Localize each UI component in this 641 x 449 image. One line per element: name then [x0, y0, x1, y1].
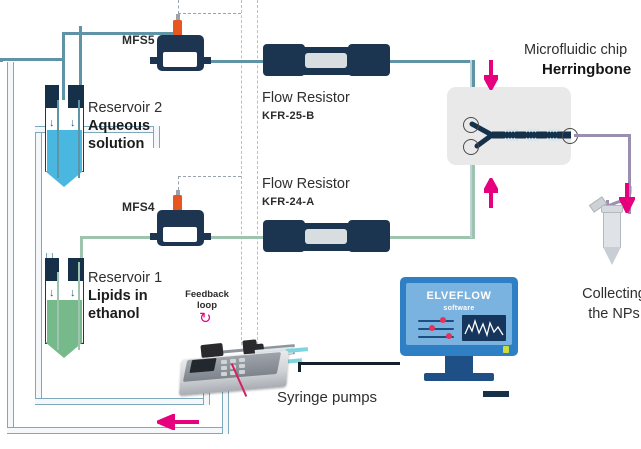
kfr-24-a-cap-left [263, 220, 305, 252]
reservoir-2-content-line1: Aqueous [88, 118, 150, 134]
tube-outline-riser-1 [222, 385, 229, 434]
monitor-screen: ELVEFLOW software [406, 283, 512, 345]
reservoir-1-content-line1: Lipids in [88, 288, 148, 304]
footer-accent-bar [483, 391, 509, 397]
mfs5-cable-horizontal [178, 13, 241, 14]
software-slider-track-1[interactable] [418, 320, 454, 322]
bottom-return-arrow [157, 414, 199, 435]
pump-key[interactable] [221, 372, 227, 377]
collection-label-line2: the NPs [562, 306, 641, 322]
monitor-neck [445, 356, 473, 373]
kfr-24-a-model: KFR-24-A [262, 196, 315, 208]
eppendorf-tip [603, 247, 621, 265]
pump-display [189, 358, 216, 373]
reservoir-2-name: Reservoir 2 [88, 100, 162, 116]
reservoir-1-dip-tube-a [57, 272, 59, 350]
reservoir-2-arrow-1: ↓ [49, 118, 55, 129]
reservoir-1-content-line2: ethanol [88, 306, 140, 322]
diagram-canvas: ↓ ↓ Reservoir 2 Aqueous solution ↓ ↓ Res… [0, 0, 641, 449]
feedback-loop-icon: ↻ [199, 311, 212, 326]
software-slider-track-2[interactable] [418, 328, 454, 330]
mfs4-display-window [163, 227, 197, 242]
kfr-25-b-cap-right [348, 44, 390, 76]
pump-key[interactable] [221, 366, 227, 371]
waveform-icon [462, 315, 506, 341]
tube-chip-outlet [574, 134, 631, 137]
syringe-pumps-label: Syringe pumps [277, 390, 377, 407]
collection-label-line1: Collecting [562, 286, 641, 302]
tube-res2-riser [62, 32, 65, 100]
software-slider-knob-1[interactable] [440, 317, 446, 323]
chip-return-arrow [484, 178, 498, 213]
kfr-24-a-label: Flow Resistor [262, 176, 350, 192]
pump-key[interactable] [221, 360, 227, 365]
reservoir-2-arrow-2: ↓ [70, 118, 76, 129]
monitor-power-led [503, 346, 509, 353]
software-brand: ELVEFLOW [406, 290, 512, 302]
mfs4-label: MFS4 [122, 201, 155, 214]
mfs5-label: MFS5 [122, 34, 155, 47]
mfs4-cable-horizontal [178, 176, 241, 177]
software-slider-knob-3[interactable] [446, 333, 452, 339]
mfs4-port-left [150, 233, 159, 240]
reservoir-1-cap-right [68, 258, 84, 283]
kfr-24-a-cap-right [348, 220, 390, 252]
kfr-24-a-window [305, 229, 347, 244]
mfs5-cable-vertical [178, 0, 179, 14]
monitor-base [424, 373, 494, 381]
reservoir-2-dip-tube-a [57, 100, 59, 178]
mfs5-orange-plug [173, 20, 182, 36]
pump-key[interactable] [239, 358, 245, 363]
reservoir-1-name: Reservoir 1 [88, 270, 162, 286]
cable-monitor-elbow [298, 362, 301, 372]
tube-outline-inner-left [35, 126, 42, 405]
reservoir-2-content-line2: solution [88, 136, 144, 152]
tube-outline-drop-res2 [153, 126, 160, 148]
kfr-25-b-model: KFR-25-B [262, 110, 315, 122]
mfs4-orange-plug [173, 195, 182, 211]
mfs5-port-right [202, 57, 211, 64]
mfs5-port-left [150, 57, 159, 64]
chip-inlet-arrow [484, 60, 498, 95]
guide-dashed-left [241, 0, 242, 345]
chip-port-inlet-bottom[interactable] [463, 139, 479, 155]
software-graph-panel [462, 315, 506, 341]
tube-outline-bottom-2 [35, 398, 210, 405]
cable-monitor-horizontal [298, 362, 400, 365]
kfr-25-b-cap-left [263, 44, 305, 76]
reservoir-1-arrow-2: ↓ [70, 288, 76, 299]
kfr-25-b-label: Flow Resistor [262, 90, 350, 106]
mfs4-port-right [202, 233, 211, 240]
software-subtitle: software [406, 305, 512, 312]
software-slider-knob-2[interactable] [429, 325, 435, 331]
eppendorf-body [603, 212, 621, 248]
pump-syringe-plunger-1 [286, 347, 308, 353]
chip-port-inlet-top[interactable] [463, 117, 479, 133]
pump-key[interactable] [239, 370, 245, 375]
feedback-loop-line1: Feedback [176, 290, 238, 300]
reservoir-1-arrow-1: ↓ [49, 288, 55, 299]
tube-res2-dip-inner [79, 26, 82, 86]
reservoir-2-dip-tube-b [78, 100, 80, 178]
chip-label-line2: Herringbone [542, 62, 631, 79]
pump-key[interactable] [239, 364, 245, 369]
mfs5-display-window [163, 52, 197, 67]
kfr-25-b-window [305, 53, 347, 68]
guide-dashed-right [257, 0, 258, 345]
mfs4-cable-vertical [178, 176, 179, 190]
tube-outline-far-left [7, 62, 14, 434]
reservoir-1-dip-tube-b [78, 262, 80, 350]
chip-label-line1: Microfluidic chip [524, 42, 627, 58]
